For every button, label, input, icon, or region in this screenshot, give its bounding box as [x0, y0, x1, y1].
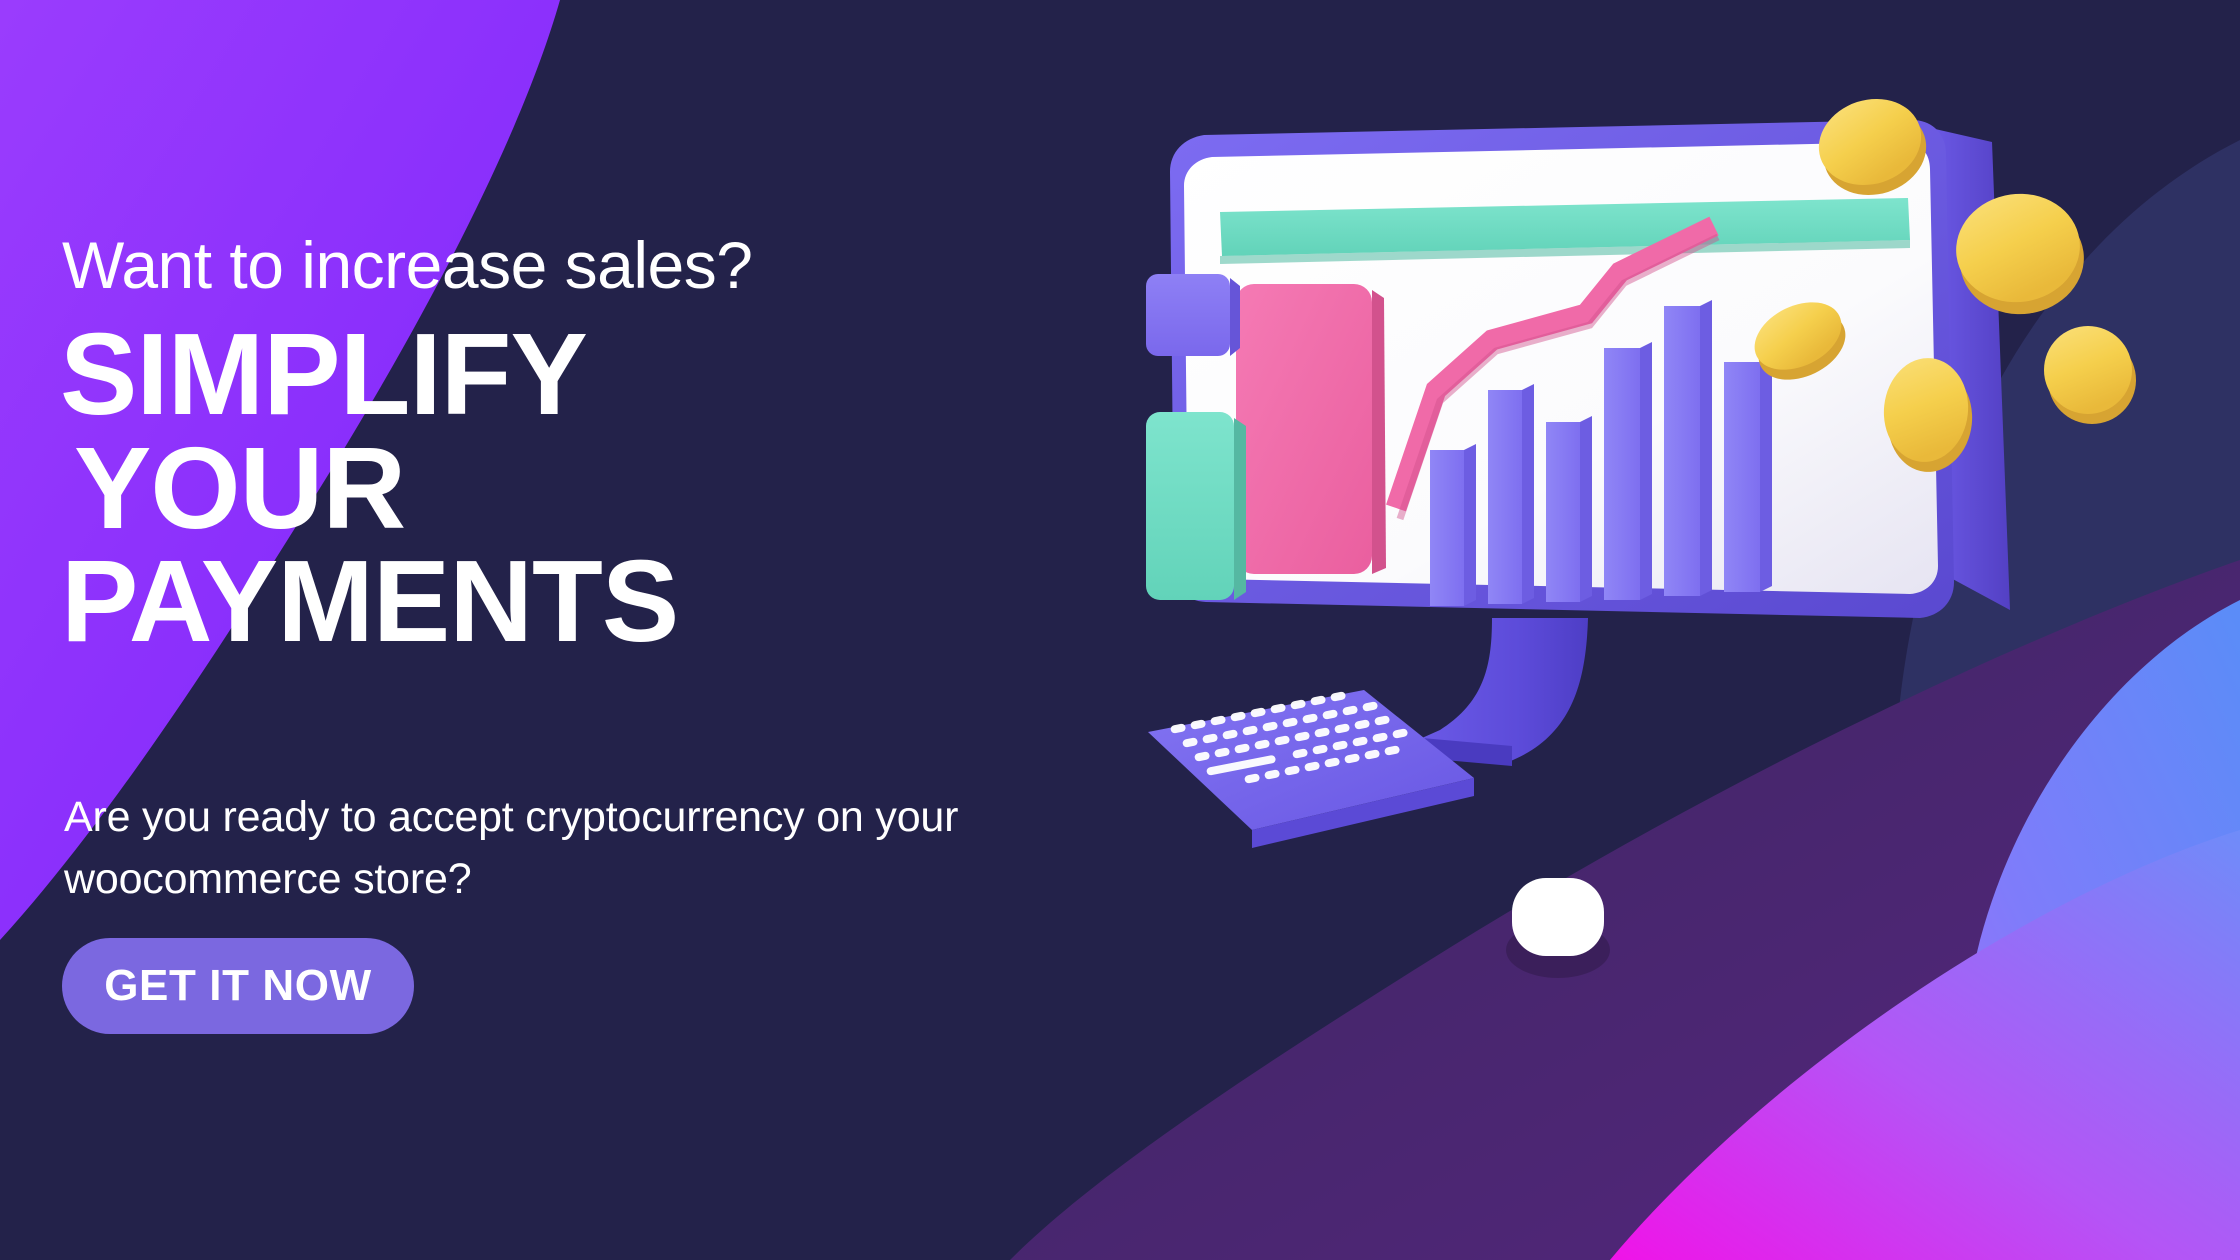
- headline-line-1: SIMPLIFY: [60, 318, 678, 432]
- keyboard: [1148, 690, 1474, 848]
- floating-tile-violet-edge: [1230, 278, 1240, 356]
- bar-4-side: [1640, 342, 1652, 600]
- promotional-banner: Want to increase sales? SIMPLIFY YOUR PA…: [0, 0, 2240, 1260]
- mouse-body: [1512, 878, 1604, 956]
- coin-5: [2044, 326, 2136, 424]
- bar-2: [1488, 390, 1522, 604]
- bar-6-side: [1760, 356, 1772, 592]
- bar-3-side: [1580, 416, 1592, 602]
- headline-line-2: YOUR: [74, 432, 678, 546]
- subtitle-text: Are you ready to accept cryptocurrency o…: [64, 786, 964, 911]
- eyebrow-text: Want to increase sales?: [62, 232, 752, 298]
- bar-2-side: [1522, 384, 1534, 604]
- monitor-stand: [1422, 618, 1588, 766]
- get-it-now-button[interactable]: GET IT NOW: [62, 938, 414, 1034]
- bar-5-side: [1700, 300, 1712, 596]
- computer-illustration: [1140, 90, 2220, 1120]
- floating-tile-teal: [1146, 412, 1234, 600]
- mouse: [1506, 878, 1610, 978]
- bar-6: [1724, 362, 1760, 592]
- bar-3: [1546, 422, 1580, 602]
- page-title: SIMPLIFY YOUR PAYMENTS: [60, 318, 678, 659]
- bar-5: [1664, 306, 1700, 596]
- floating-tiles: [1146, 274, 1246, 600]
- monitor: [1170, 120, 2010, 618]
- text-content: Want to increase sales? SIMPLIFY YOUR PA…: [62, 0, 1042, 1260]
- bar-1-side: [1464, 444, 1476, 606]
- bar-1: [1430, 450, 1464, 606]
- screen-pink-panel: [1236, 284, 1372, 574]
- computer-illustration-svg: [1140, 90, 2220, 1120]
- screen-pink-panel-edge: [1372, 290, 1386, 574]
- floating-tile-teal-edge: [1234, 418, 1246, 600]
- bar-4: [1604, 348, 1640, 600]
- headline-line-3: PAYMENTS: [61, 545, 678, 659]
- floating-tile-violet: [1146, 274, 1230, 356]
